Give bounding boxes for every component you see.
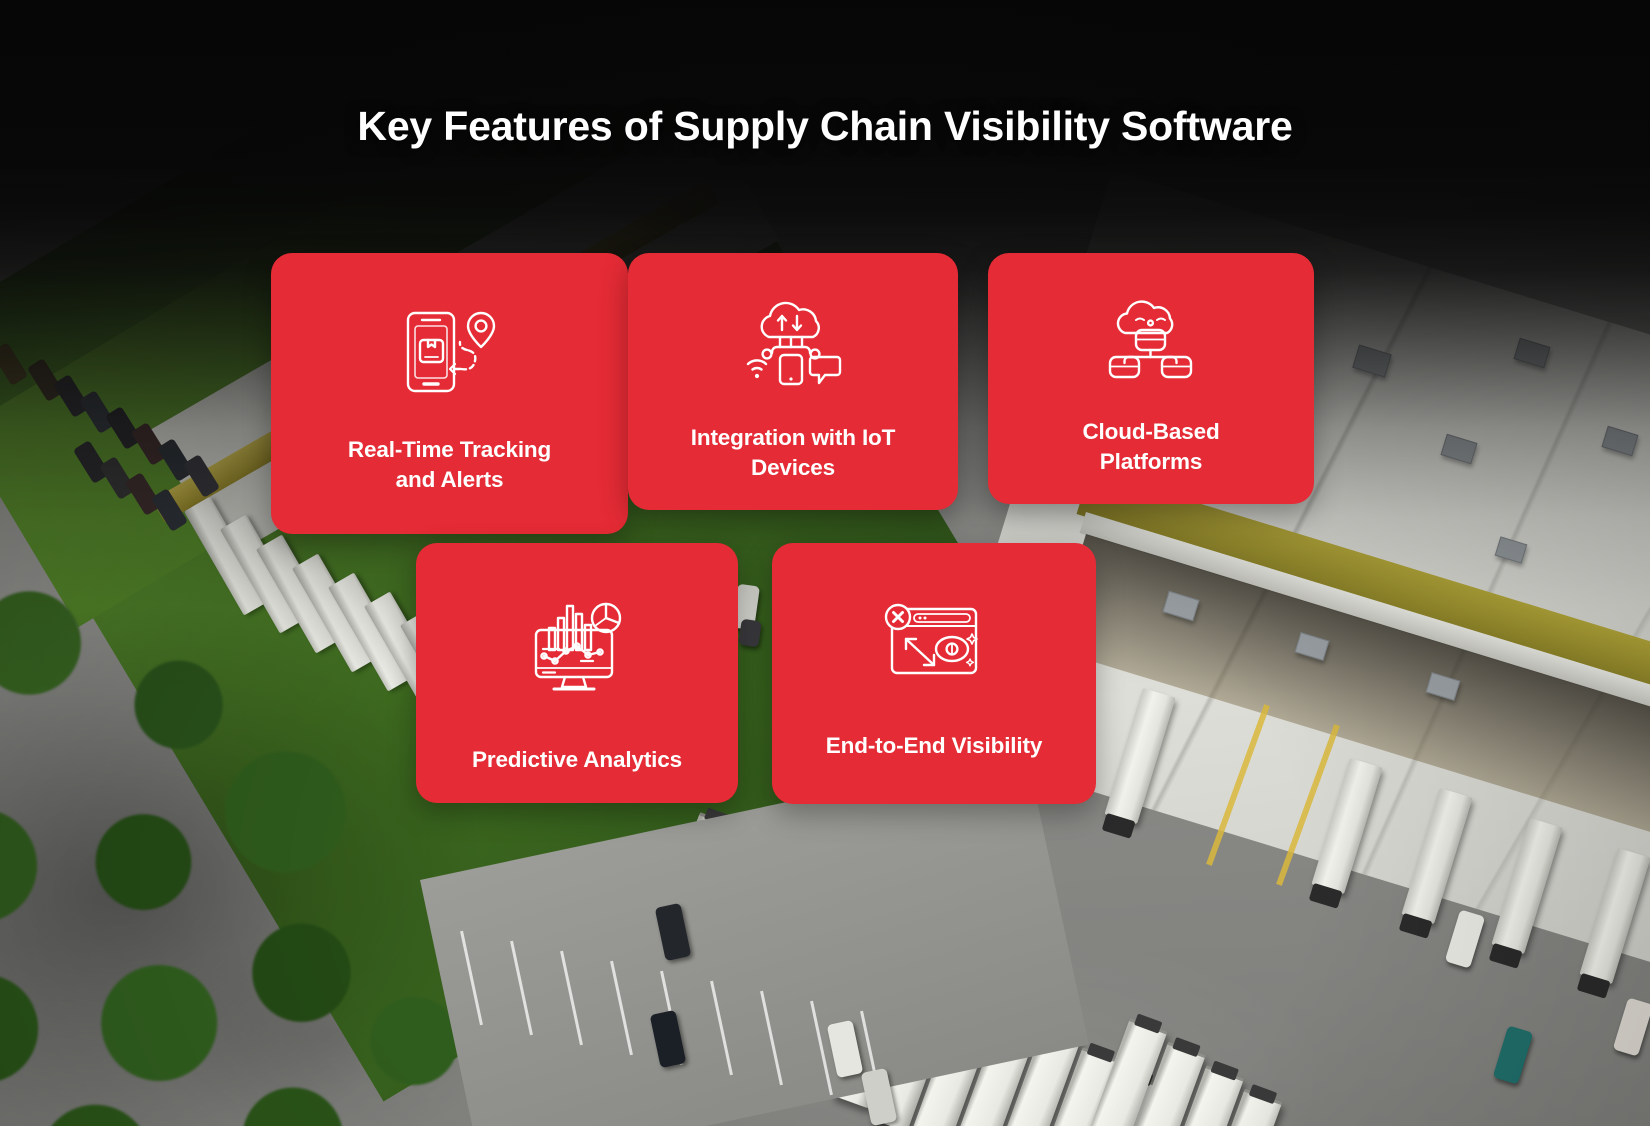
card-label: Integration with IoT Devices xyxy=(671,423,915,483)
card-label: Predictive Analytics xyxy=(452,745,702,775)
card-label: Real-Time Tracking and Alerts xyxy=(328,435,571,495)
card-icon-wrap xyxy=(271,307,628,397)
monitor-charts-analytics-icon xyxy=(527,599,627,695)
card-label: End-to-End Visibility xyxy=(806,731,1062,761)
infographic-stage: Key Features of Supply Chain Visibility … xyxy=(0,0,1650,1126)
card-icon-wrap xyxy=(988,297,1314,381)
phone-package-location-pin-icon xyxy=(398,307,502,397)
feature-card-cloud-platforms[interactable]: Cloud-Based Platforms xyxy=(988,253,1314,504)
infographic-content: Key Features of Supply Chain Visibility … xyxy=(0,0,1650,1126)
cloud-server-network-icon xyxy=(1103,297,1199,381)
feature-card-real-time-tracking[interactable]: Real-Time Tracking and Alerts xyxy=(271,253,628,534)
card-icon-wrap xyxy=(628,299,958,387)
feature-card-iot-integration[interactable]: Integration with IoT Devices xyxy=(628,253,958,510)
feature-card-end-to-end-visibility[interactable]: End-to-End Visibility xyxy=(772,543,1096,804)
card-label: Cloud-Based Platforms xyxy=(1062,417,1239,477)
page-title: Key Features of Supply Chain Visibility … xyxy=(0,103,1650,150)
cloud-iot-devices-icon xyxy=(741,299,845,387)
card-icon-wrap xyxy=(416,599,738,695)
card-icon-wrap xyxy=(772,601,1096,681)
browser-eye-arrow-visibility-icon xyxy=(884,601,984,681)
feature-card-predictive-analytics[interactable]: Predictive Analytics xyxy=(416,543,738,803)
